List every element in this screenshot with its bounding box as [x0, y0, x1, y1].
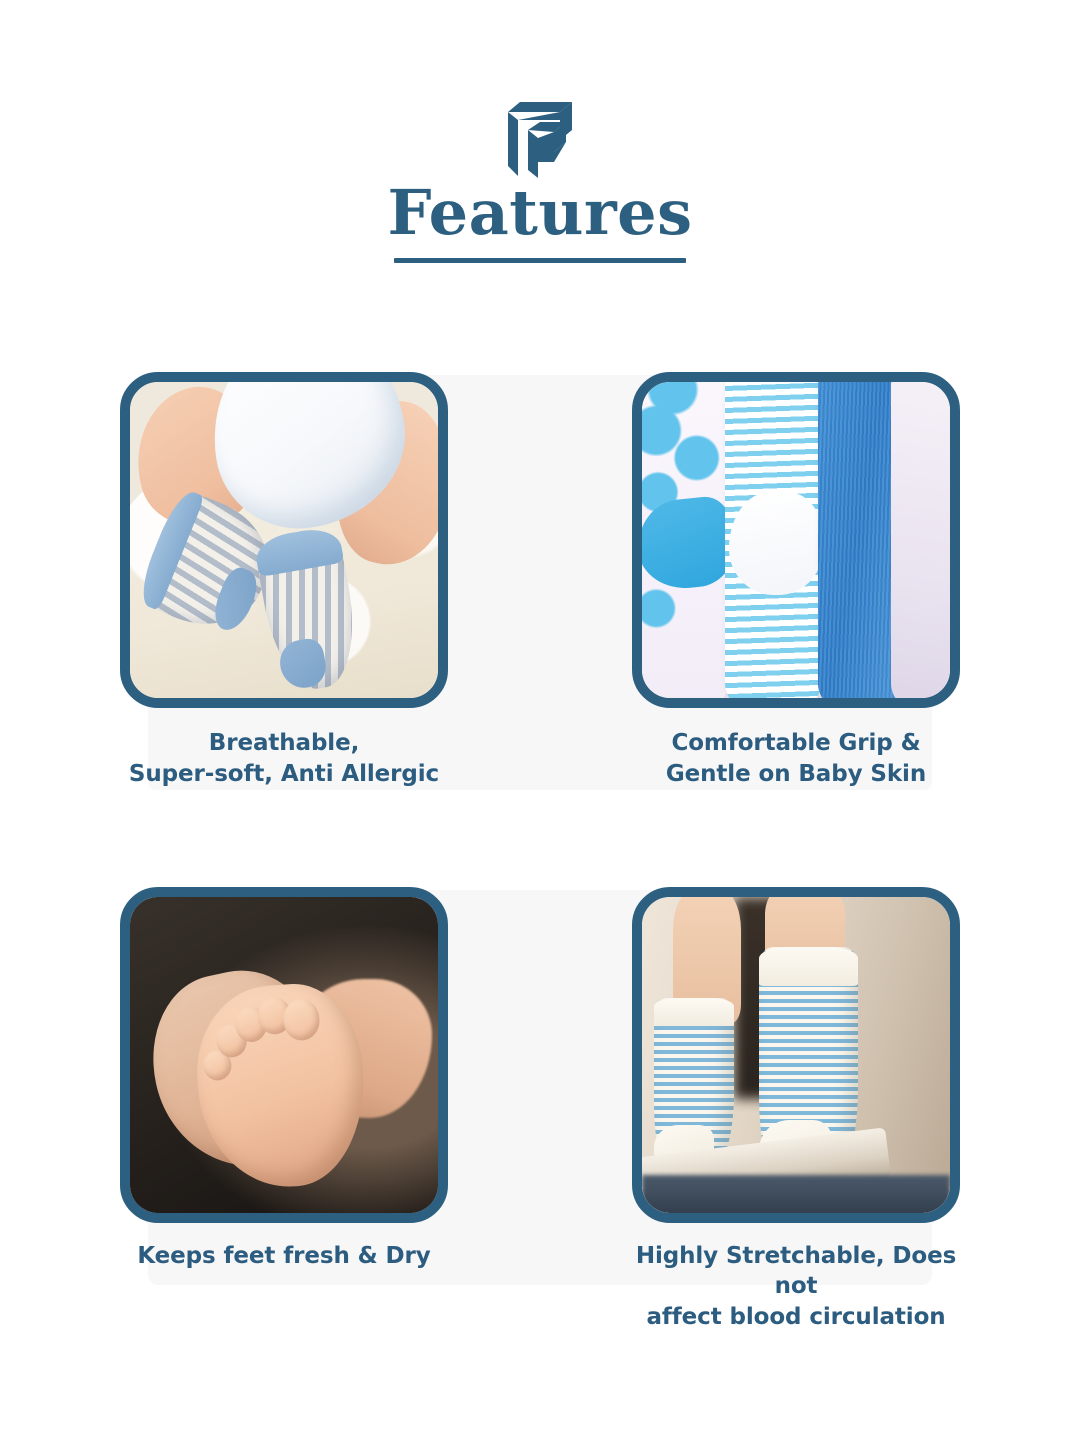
sock-cuff-shape: [759, 947, 858, 985]
standing-striped-socks-photo: [642, 897, 950, 1213]
feature-card-fresh-and-dry[interactable]: Keeps feet fresh & Dry: [120, 887, 448, 1333]
feature-card-comfortable-grip[interactable]: Comfortable Grip & Gentle on Baby Skin: [632, 372, 960, 790]
sock-toe-shape: [729, 492, 823, 594]
feature-caption: Highly Stretchable, Does not affect bloo…: [632, 1241, 960, 1333]
feature-caption: Breathable, Super-soft, Anti Allergic: [129, 728, 439, 790]
feature-image-frame: [632, 372, 960, 708]
floor-shape: [642, 1175, 950, 1213]
sock-toe-shape: [642, 494, 738, 592]
socks-flatlay-photo: [642, 382, 950, 698]
feature-image-frame: [120, 887, 448, 1223]
feature-image-frame: [120, 372, 448, 708]
fp-monogram-logo-icon: [504, 100, 576, 178]
page-header: Features: [0, 0, 1080, 290]
solid-blue-sock-shape: [818, 382, 901, 698]
feature-caption: Keeps feet fresh & Dry: [137, 1241, 430, 1272]
polka-dot-sock-shape: [642, 382, 728, 698]
baby-toe-shape: [282, 998, 321, 1041]
striped-sock-shape: [725, 382, 820, 698]
title-underline-rule: [394, 258, 686, 263]
feature-card-highly-stretchable[interactable]: Highly Stretchable, Does not affect bloo…: [632, 887, 960, 1333]
baby-fleece-photo: [130, 382, 438, 698]
page-title: Features: [388, 182, 693, 244]
feature-card-breathable[interactable]: Breathable, Super-soft, Anti Allergic: [120, 372, 448, 790]
bare-baby-feet-photo: [130, 897, 438, 1213]
feature-caption: Comfortable Grip & Gentle on Baby Skin: [666, 728, 926, 790]
feature-image-frame: [632, 887, 960, 1223]
sock-cuff-shape: [654, 998, 734, 1026]
plain-white-sock-shape: [891, 382, 950, 698]
features-grid: Breathable, Super-soft, Anti Allergic Co…: [0, 372, 1080, 1333]
feature-row-1: Breathable, Super-soft, Anti Allergic Co…: [120, 372, 960, 790]
feature-row-2: Keeps feet fresh & Dry: [120, 887, 960, 1333]
